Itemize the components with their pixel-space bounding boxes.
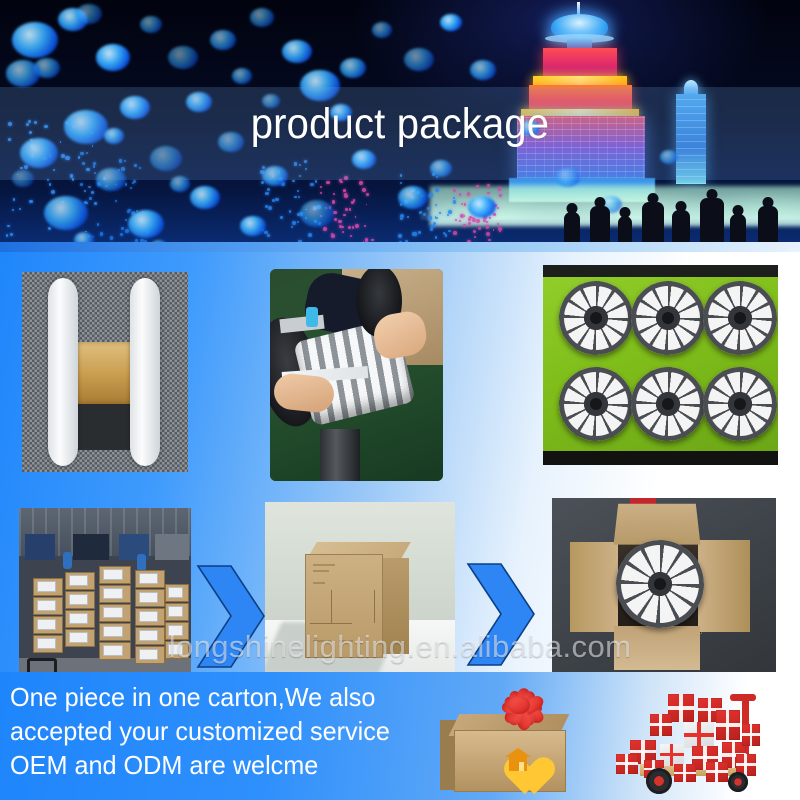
red-bow-icon	[484, 686, 556, 730]
gift-box-with-red-bow	[440, 686, 600, 796]
banner-bottom-strip	[0, 242, 800, 252]
process-step-4-boxed-reel	[552, 498, 776, 676]
footer-line-1: One piece in one carton,We also	[10, 680, 427, 714]
arrow-step2-to-step3	[466, 562, 536, 667]
process-step-2-winding-strip	[270, 269, 443, 481]
process-step-6-warehouse-stock	[19, 508, 191, 694]
arrow-step1-to-step2	[196, 564, 266, 669]
page-title: product package	[28, 98, 772, 150]
footer-line-2: accepted your customized service	[10, 714, 427, 748]
product-package-infographic: product package	[0, 0, 800, 800]
footer-line-3: OEM and ODM are welcme	[10, 748, 427, 782]
banner-header: product package	[0, 0, 800, 252]
hand-truck-with-red-gift-boxes	[610, 688, 790, 794]
footer-message: One piece in one carton,We also accepted…	[10, 680, 427, 782]
house-icon	[508, 754, 528, 772]
process-step-1-empty-spool	[22, 272, 188, 472]
process-step-3-wound-reels	[543, 265, 778, 465]
process-step-5-sealed-carton	[265, 502, 455, 687]
